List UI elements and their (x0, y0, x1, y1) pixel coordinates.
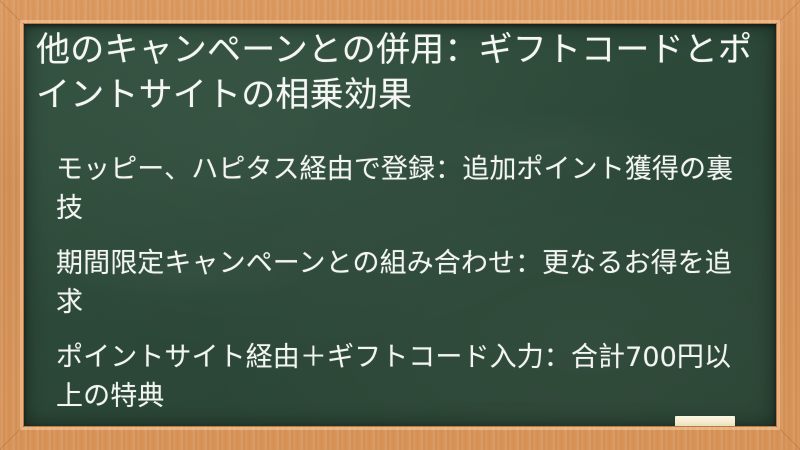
slide-title: 他のキャンペーンとの併用：ギフトコードとポイントサイトの相乗効果 (36, 28, 760, 118)
frame-miter-top-left (0, 0, 25, 26)
frame-miter-bottom-right (775, 424, 800, 450)
list-item: 期間限定キャンペーンとの組み合わせ：更なるお得を追求 (56, 244, 756, 322)
board-content: 他のキャンペーンとの併用：ギフトコードとポイントサイトの相乗効果 モッピー、ハピ… (24, 24, 776, 426)
chalkboard-slide: 他のキャンペーンとの併用：ギフトコードとポイントサイトの相乗効果 モッピー、ハピ… (0, 0, 800, 450)
list-item: モッピー、ハピタス経由で登録：追加ポイント獲得の裏技 (56, 150, 756, 228)
chalkboard-surface: 他のキャンペーンとの併用：ギフトコードとポイントサイトの相乗効果 モッピー、ハピ… (24, 24, 776, 426)
list-item: ポイントサイト経由＋ギフトコード入力：合計700円以上の特典 (56, 338, 756, 416)
frame-miter-bottom-left (0, 424, 25, 450)
bullet-list: モッピー、ハピタス経由で登録：追加ポイント獲得の裏技 期間限定キャンペーンとの組… (56, 150, 756, 426)
frame-miter-top-right (775, 0, 800, 26)
chalk-stick (675, 416, 735, 426)
